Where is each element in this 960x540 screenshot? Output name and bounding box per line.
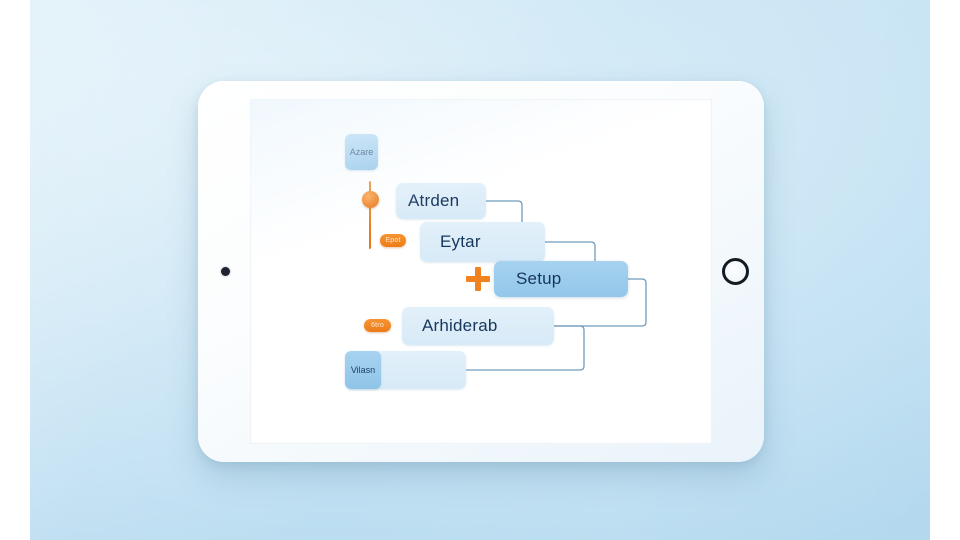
tablet-screen[interactable]: Azare Atrden Eytar Setup Arhiderab (250, 99, 712, 444)
front-camera-icon (221, 267, 230, 276)
node-setup[interactable]: Setup (494, 261, 628, 297)
home-button[interactable] (722, 258, 749, 285)
node-chip-vilasn[interactable]: Vilasn (345, 351, 381, 389)
node-chip-azare[interactable]: Azare (345, 134, 378, 170)
node-eytar-label: Eytar (440, 232, 481, 252)
timeline-node-icon[interactable] (362, 191, 379, 208)
add-node-icon[interactable] (466, 267, 490, 291)
node-atrden[interactable]: Atrden (396, 183, 486, 219)
status-badge-epot[interactable]: Epot (380, 234, 406, 247)
node-arhiderab[interactable]: Arhiderab (402, 307, 554, 345)
node-setup-label: Setup (516, 269, 561, 289)
tablet-device: Azare Atrden Eytar Setup Arhiderab (198, 81, 764, 462)
node-chip-vilasn-label: Vilasn (351, 365, 375, 375)
node-eytar[interactable]: Eytar (420, 222, 545, 262)
status-badge-6tro-label: 6tro (371, 322, 384, 329)
status-badge-epot-label: Epot (385, 237, 400, 244)
node-atrden-label: Atrden (408, 191, 459, 211)
status-badge-6tro[interactable]: 6tro (364, 319, 391, 332)
node-chip-azare-label: Azare (350, 147, 374, 157)
screenshot-scene: Azare Atrden Eytar Setup Arhiderab (0, 0, 960, 540)
node-arhiderab-label: Arhiderab (422, 316, 498, 336)
workflow-diagram-canvas[interactable]: Azare Atrden Eytar Setup Arhiderab (250, 99, 712, 444)
